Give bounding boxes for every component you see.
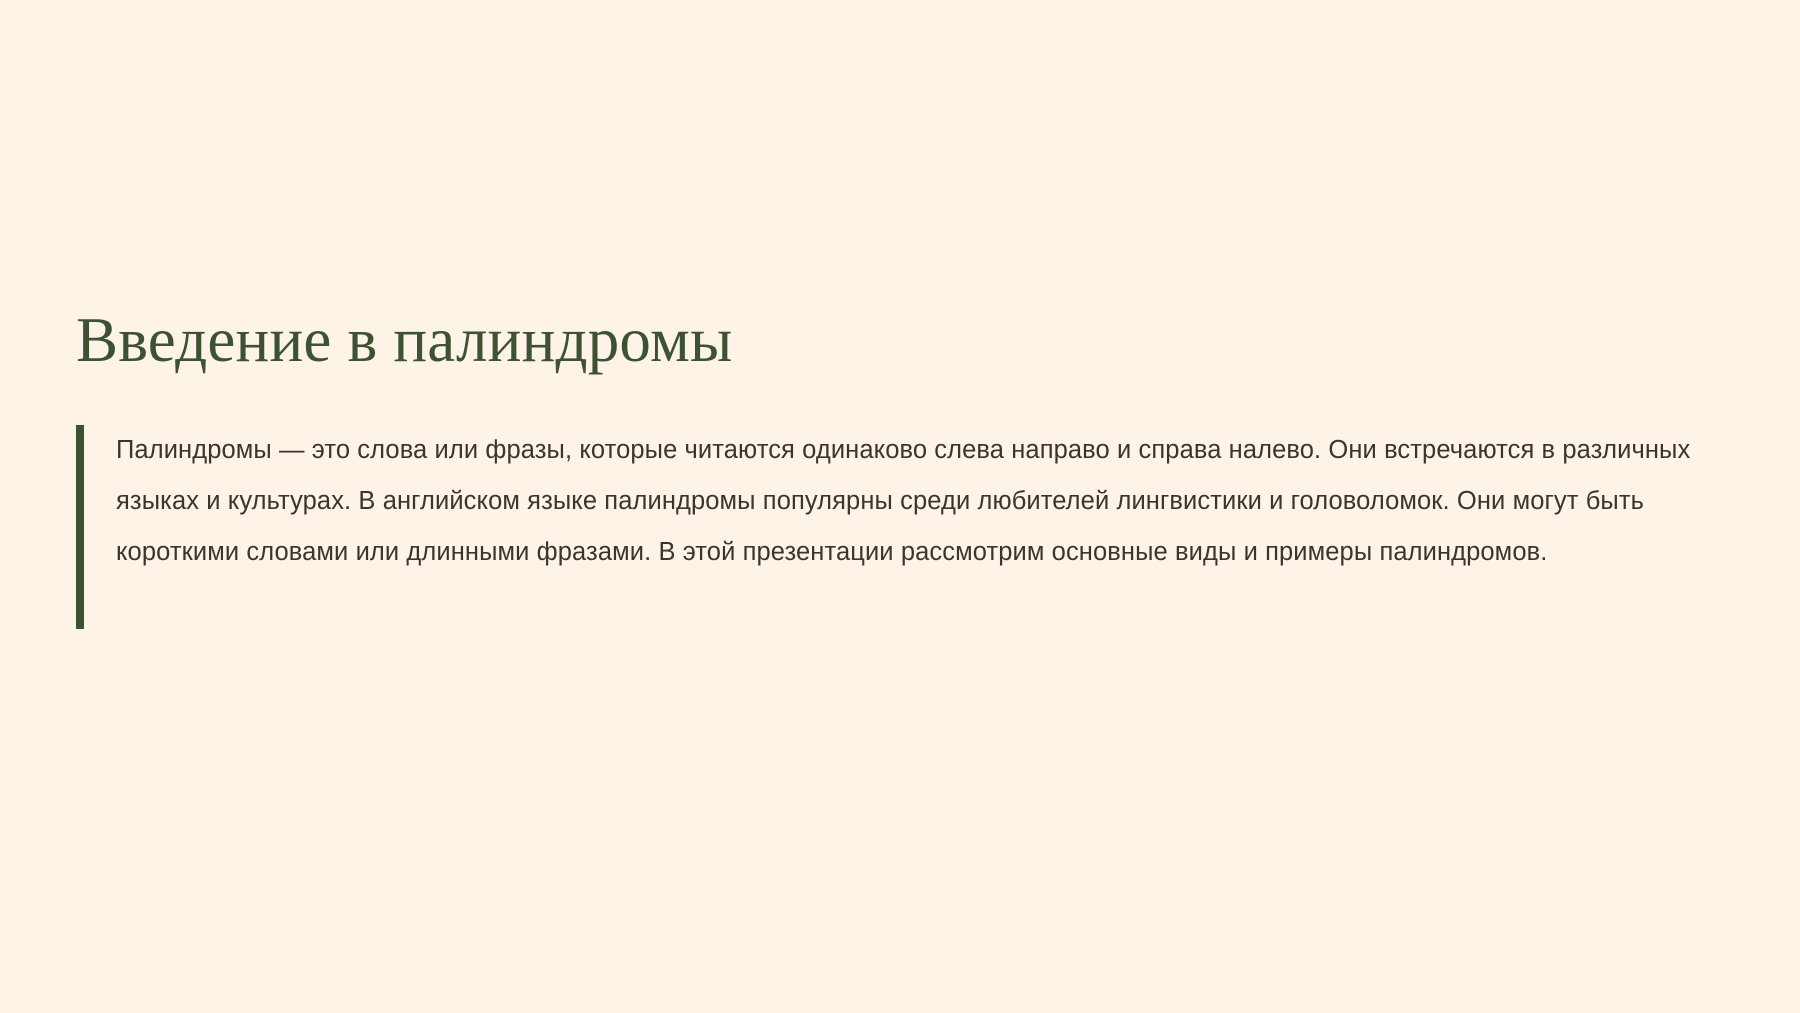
body-block: Палиндромы — это слова или фразы, которы… (76, 425, 1736, 629)
slide-content: Введение в палиндромы Палиндромы — это с… (76, 306, 1736, 629)
presentation-slide: Введение в палиндромы Палиндромы — это с… (0, 0, 1800, 1013)
body-paragraph: Палиндромы — это слова или фразы, которы… (116, 425, 1728, 578)
accent-bar (76, 425, 84, 629)
page-title: Введение в палиндромы (76, 306, 1736, 374)
